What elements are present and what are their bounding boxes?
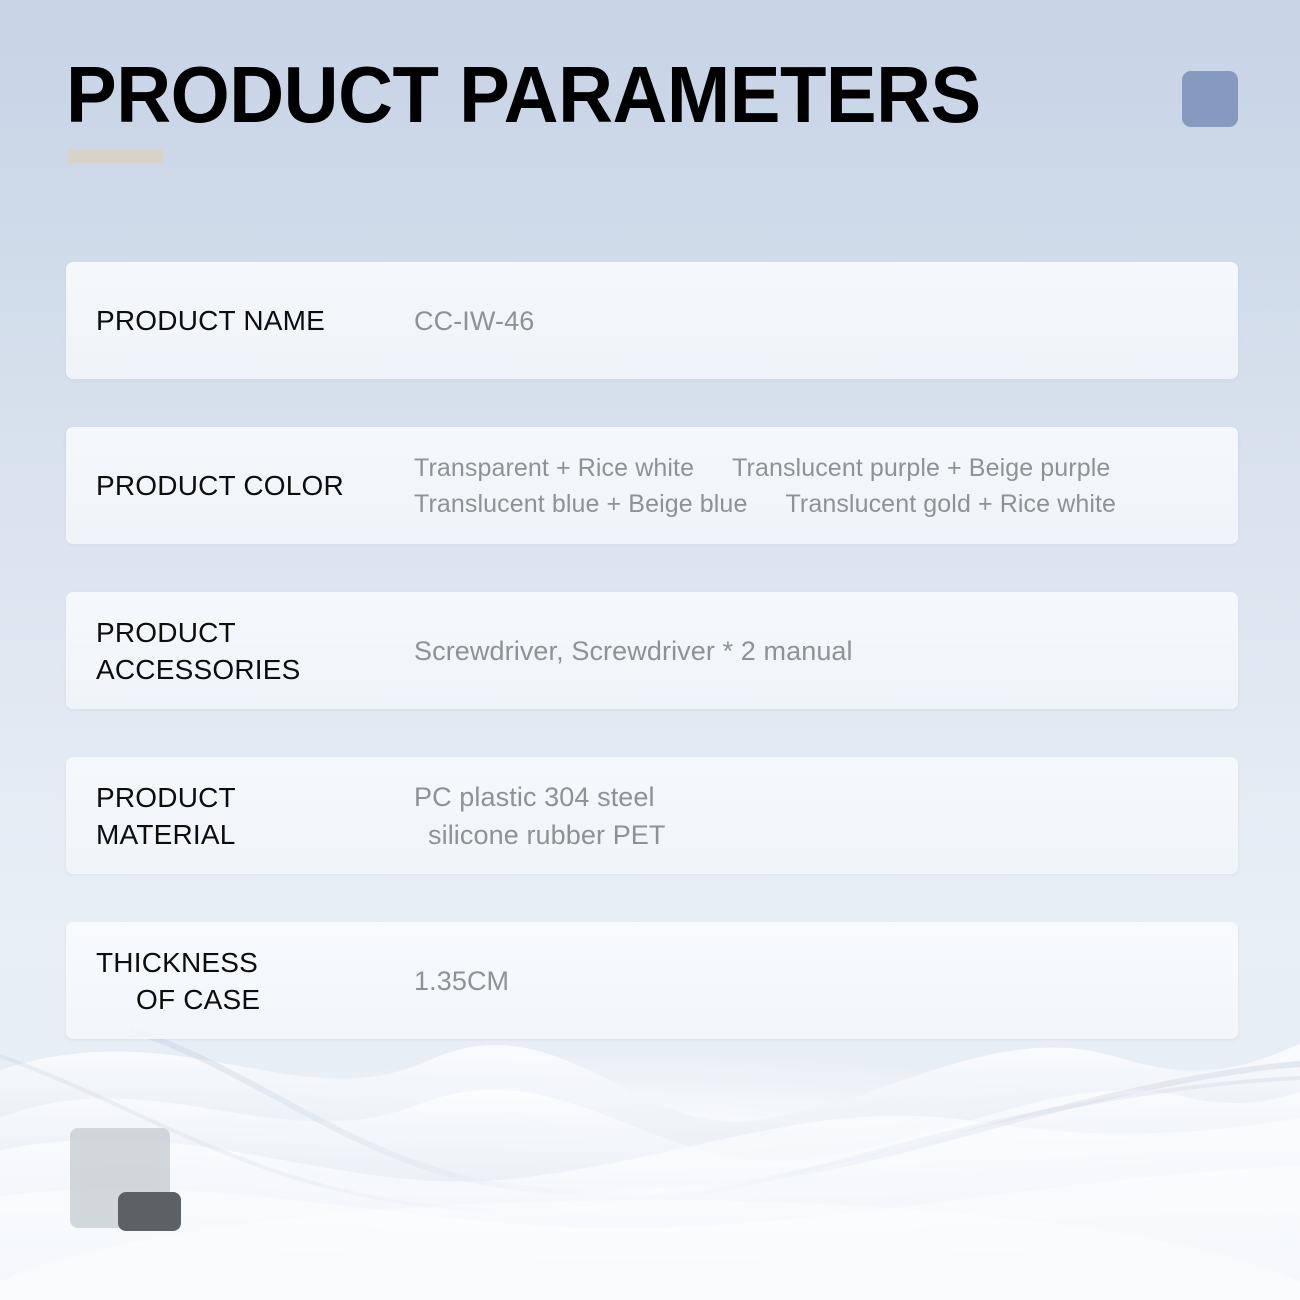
table-row-product-accessories: PRODUCT ACCESSORIES Screwdriver, Screwdr… [66, 592, 1238, 709]
row-value-product-material: PC plastic 304 steel silicone rubber PET [414, 778, 1218, 854]
color-option-4: Translucent gold + Rice white [785, 490, 1116, 518]
label-line-1: THICKNESS [96, 947, 258, 978]
row-label-product-accessories: PRODUCT ACCESSORIES [96, 614, 426, 688]
label-line-2: MATERIAL [96, 816, 426, 853]
value-line-1: Screwdriver, Screwdriver * 2 manual [414, 632, 1218, 670]
table-row-thickness-of-case: THICKNESS OF CASE 1.35CM [66, 922, 1238, 1039]
table-row-product-material: PRODUCT MATERIAL PC plastic 304 steel si… [66, 757, 1238, 874]
row-label-product-name: PRODUCT NAME [96, 302, 426, 339]
label-line-1: PRODUCT [96, 782, 236, 813]
title-accent-bar [68, 150, 163, 163]
color-value-line-1: Transparent + Rice whiteTranslucent purp… [414, 450, 1218, 486]
row-value-product-accessories: Screwdriver, Screwdriver * 2 manual [414, 632, 1218, 670]
row-label-product-material: PRODUCT MATERIAL [96, 779, 426, 853]
value-line-1: CC-IW-46 [414, 302, 1218, 340]
color-value-line-2: Translucent blue + Beige blueTranslucent… [414, 486, 1218, 522]
color-option-3: Translucent blue + Beige blue [414, 490, 747, 518]
label-line-1: PRODUCT NAME [96, 305, 325, 336]
label-line-1: PRODUCT COLOR [96, 470, 344, 501]
value-line-1: 1.35CM [414, 962, 1218, 1000]
parameter-table: PRODUCT NAME CC-IW-46 PRODUCT COLOR Tran… [66, 262, 1238, 1039]
table-row-product-color: PRODUCT COLOR Transparent + Rice whiteTr… [66, 427, 1238, 544]
label-line-2: ACCESSORIES [96, 651, 426, 688]
row-value-product-color: Transparent + Rice whiteTranslucent purp… [414, 450, 1218, 522]
color-option-1: Transparent + Rice white [414, 454, 694, 482]
silk-wave-decoration [0, 1000, 1300, 1300]
corner-square-decoration [1182, 71, 1238, 127]
label-line-1: PRODUCT [96, 617, 236, 648]
row-label-product-color: PRODUCT COLOR [96, 467, 426, 504]
value-line-2: silicone rubber PET [414, 816, 1218, 854]
page-title: PRODUCT PARAMETERS [66, 52, 981, 138]
row-label-thickness-of-case: THICKNESS OF CASE [96, 944, 426, 1018]
bottom-glow [0, 1055, 1300, 1300]
value-line-1: PC plastic 304 steel [414, 778, 1218, 816]
label-line-2: OF CASE [96, 981, 426, 1018]
color-option-2: Translucent purple + Beige purple [732, 454, 1110, 482]
row-value-thickness-of-case: 1.35CM [414, 962, 1218, 1000]
table-row-product-name: PRODUCT NAME CC-IW-46 [66, 262, 1238, 379]
product-parameters-page: PRODUCT PARAMETERS PRODUCT NAME CC-IW-46… [0, 0, 1300, 1300]
row-value-product-name: CC-IW-46 [414, 302, 1218, 340]
decorative-square-small [118, 1192, 181, 1231]
